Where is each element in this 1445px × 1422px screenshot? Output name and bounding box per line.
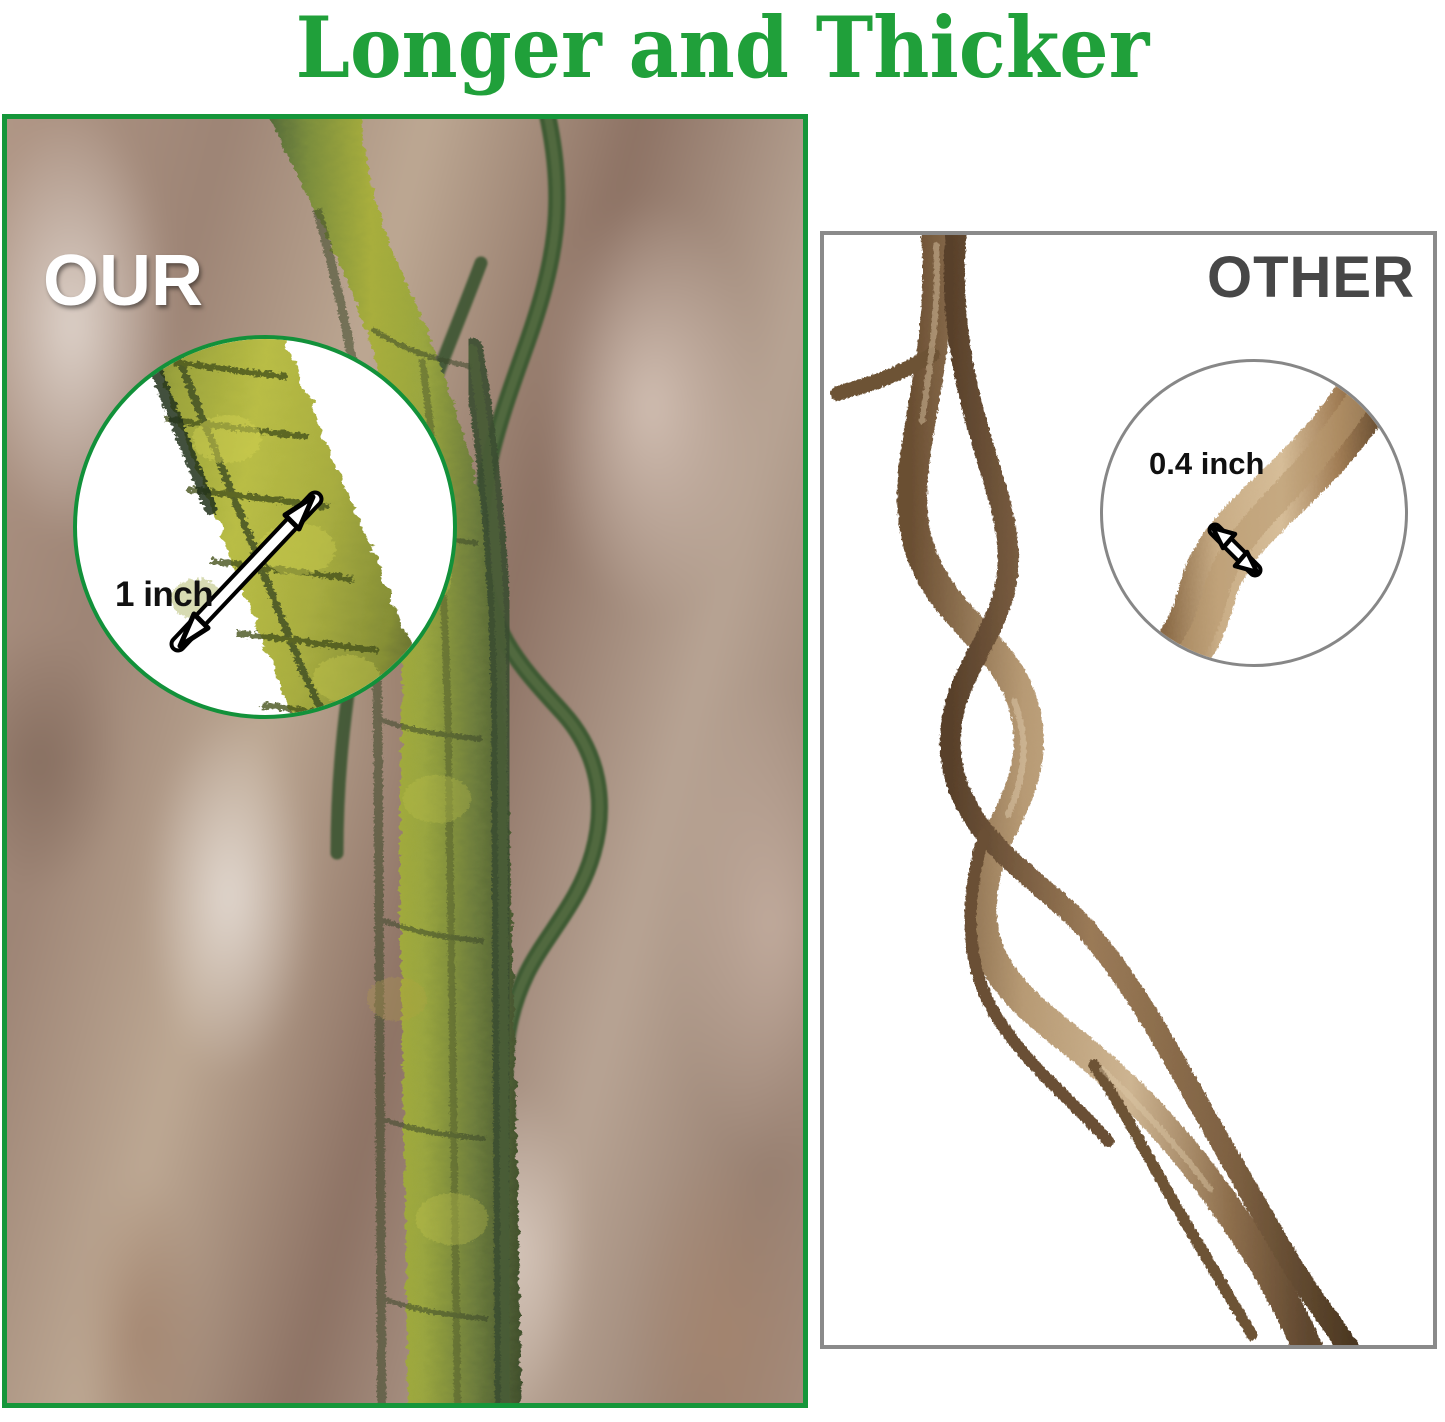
our-measurement-label: 1 inch bbox=[115, 575, 213, 615]
magnified-thin-vine-section bbox=[1103, 362, 1408, 667]
other-measurement-label: 0.4 inch bbox=[1149, 446, 1264, 482]
page-title: Longer and Thicker bbox=[58, 0, 1387, 98]
other-magnifier-callout: 0.4 inch bbox=[1100, 359, 1408, 667]
thick-green-vine bbox=[222, 114, 622, 1408]
our-panel-label: OUR bbox=[43, 245, 203, 317]
magnified-vine-section bbox=[73, 335, 457, 719]
our-product-panel: 1 inch OUR bbox=[2, 114, 808, 1408]
our-magnifier-callout: 1 inch bbox=[73, 335, 457, 719]
comparison-infographic: Longer and Thicker bbox=[0, 0, 1445, 1422]
other-product-panel: OTHER bbox=[820, 231, 1437, 1349]
